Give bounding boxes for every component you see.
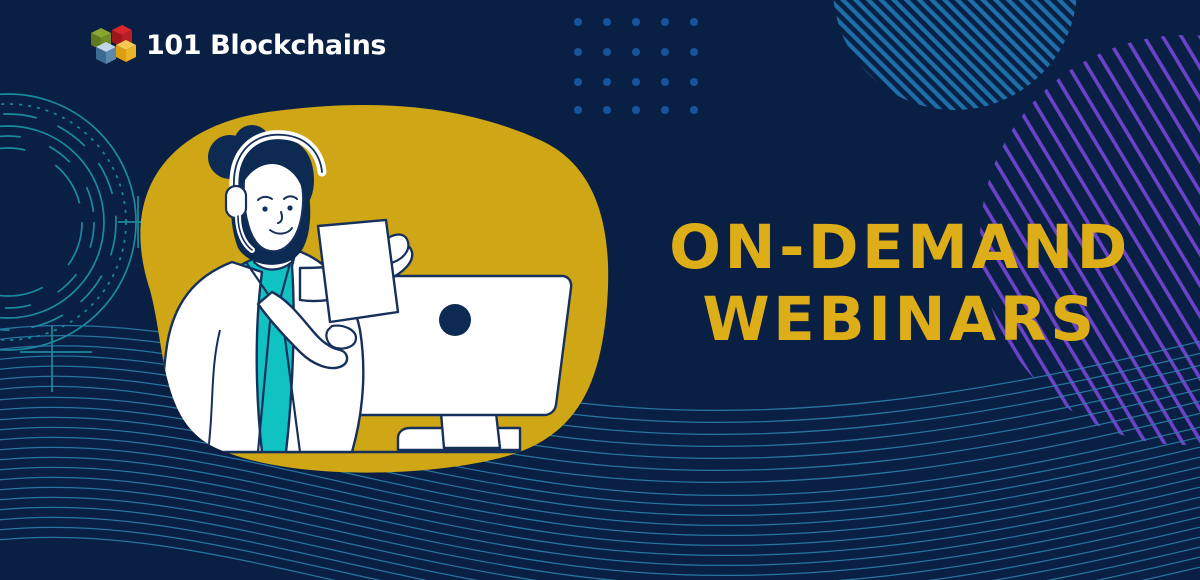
brand-name: 101 Blockchains xyxy=(146,32,386,59)
headline-line-1: ON-DEMAND xyxy=(620,212,1180,284)
brand-logo[interactable]: 101 Blockchains xyxy=(88,22,386,68)
headline-line-2: WEBINARS xyxy=(620,284,1180,356)
four-cubes-logo-icon xyxy=(88,22,136,68)
paper-sheet xyxy=(318,220,398,322)
page-title: ON-DEMAND WEBINARS xyxy=(620,212,1180,356)
monitor-camera-dot xyxy=(439,304,471,336)
webinar-banner: 101 Blockchains ON-DEMAND WEBINARS xyxy=(0,0,1200,580)
